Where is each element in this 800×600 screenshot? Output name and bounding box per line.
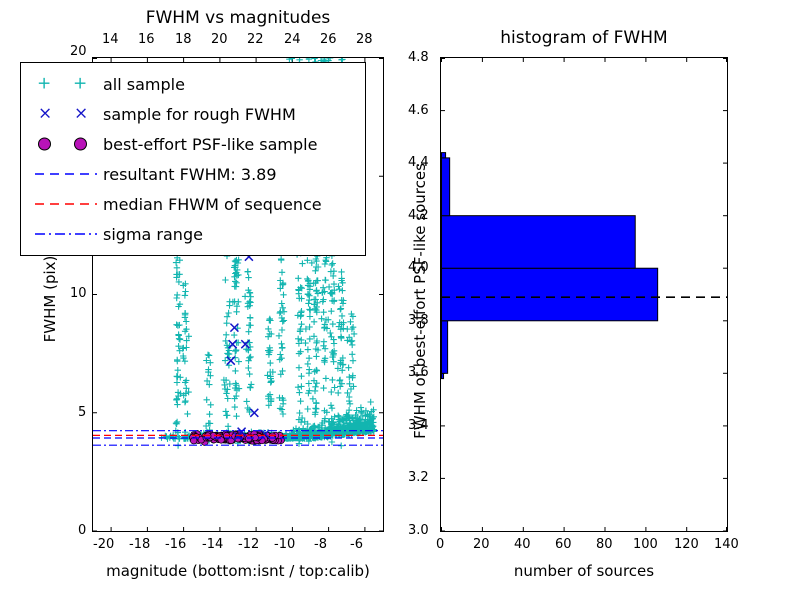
left-xtick-top-1: 16: [138, 32, 155, 47]
legend-label-sigma-range: sigma range: [103, 225, 203, 244]
left-xtick-top-5: 24: [284, 32, 301, 47]
legend-item-all-sample: ++ all sample: [21, 69, 365, 99]
plus-marker-icon: ++: [29, 72, 103, 96]
red-dashed-line-icon: [29, 192, 103, 216]
right-xtick-1: 20: [473, 537, 490, 552]
right-xtick-6: 120: [674, 537, 699, 552]
legend-label-resultant-fwhm: resultant FWHM: 3.89: [103, 165, 277, 184]
left-ytick-1: 5: [78, 405, 86, 420]
left-xtick-top-7: 28: [356, 32, 373, 47]
left-yaxis-label: FWHM (pix): [41, 239, 59, 359]
legend-item-psf-like: best-effort PSF-like sample: [21, 129, 365, 159]
blue-dashdot-line-icon: [29, 222, 103, 246]
right-xaxis-label: number of sources: [440, 562, 728, 580]
left-xtick-top-2: 18: [175, 32, 192, 47]
legend-item-sigma-range: sigma range: [21, 219, 365, 249]
right-chart-title: histogram of FWHM: [440, 28, 728, 48]
legend-label-rough-fwhm: sample for rough FWHM: [103, 105, 296, 124]
right-ytick-9: 4.8: [408, 50, 429, 65]
right-xtick-4: 80: [596, 537, 613, 552]
left-xtick-top-6: 26: [320, 32, 337, 47]
legend-item-median-fwhm: median FHWM of sequence: [21, 189, 365, 219]
right-ytick-0: 3.0: [408, 523, 429, 538]
legend-item-rough-fwhm: ×× sample for rough FWHM: [21, 99, 365, 129]
left-xtick-bot-7: -6: [350, 537, 363, 552]
x-marker-icon: ××: [29, 102, 103, 126]
histogram-bars: [442, 153, 658, 379]
histogram-svg: [441, 58, 727, 531]
left-ytick-2: 10: [70, 286, 87, 301]
left-xtick-top-0: 14: [102, 32, 119, 47]
circle-marker-icon: [29, 132, 103, 156]
right-xtick-3: 60: [555, 537, 572, 552]
legend-label-all-sample: all sample: [103, 75, 185, 94]
left-xtick-bot-3: -14: [202, 537, 223, 552]
left-ytick-0: 0: [78, 523, 86, 538]
right-xtick-7: 140: [714, 537, 739, 552]
left-xtick-top-4: 22: [247, 32, 264, 47]
left-xtick-bot-1: -18: [129, 537, 150, 552]
left-xtick-bot-2: -16: [165, 537, 186, 552]
legend-label-psf-like: best-effort PSF-like sample: [103, 135, 317, 154]
histogram-plot-area: [440, 57, 728, 532]
right-ytick-8: 4.6: [408, 103, 429, 118]
right-xtick-5: 100: [633, 537, 658, 552]
legend-item-resultant-fwhm: resultant FWHM: 3.89: [21, 159, 365, 189]
right-yaxis-label: FWHM of best-effort PSF-like sources: [411, 121, 429, 481]
left-xtick-bot-6: -8: [314, 537, 327, 552]
left-chart-title: FWHM vs magnitudes: [92, 8, 384, 28]
right-xtick-2: 40: [514, 537, 531, 552]
legend-box: ++ all sample ×× sample for rough FWHM b…: [20, 62, 366, 256]
left-xtick-bot-0: -20: [93, 537, 114, 552]
right-xtick-0: 0: [436, 537, 444, 552]
legend-label-median-fwhm: median FHWM of sequence: [103, 195, 322, 214]
figure-canvas: FWHM vs magnitudes: [0, 0, 800, 600]
left-xaxis-label: magnitude (bottom:isnt / top:calib): [62, 562, 414, 580]
left-ytick-4: 20: [70, 44, 87, 59]
left-xtick-top-3: 20: [211, 32, 228, 47]
blue-dashed-line-icon: [29, 162, 103, 186]
left-xtick-bot-5: -10: [274, 537, 295, 552]
left-xtick-bot-4: -12: [238, 537, 259, 552]
